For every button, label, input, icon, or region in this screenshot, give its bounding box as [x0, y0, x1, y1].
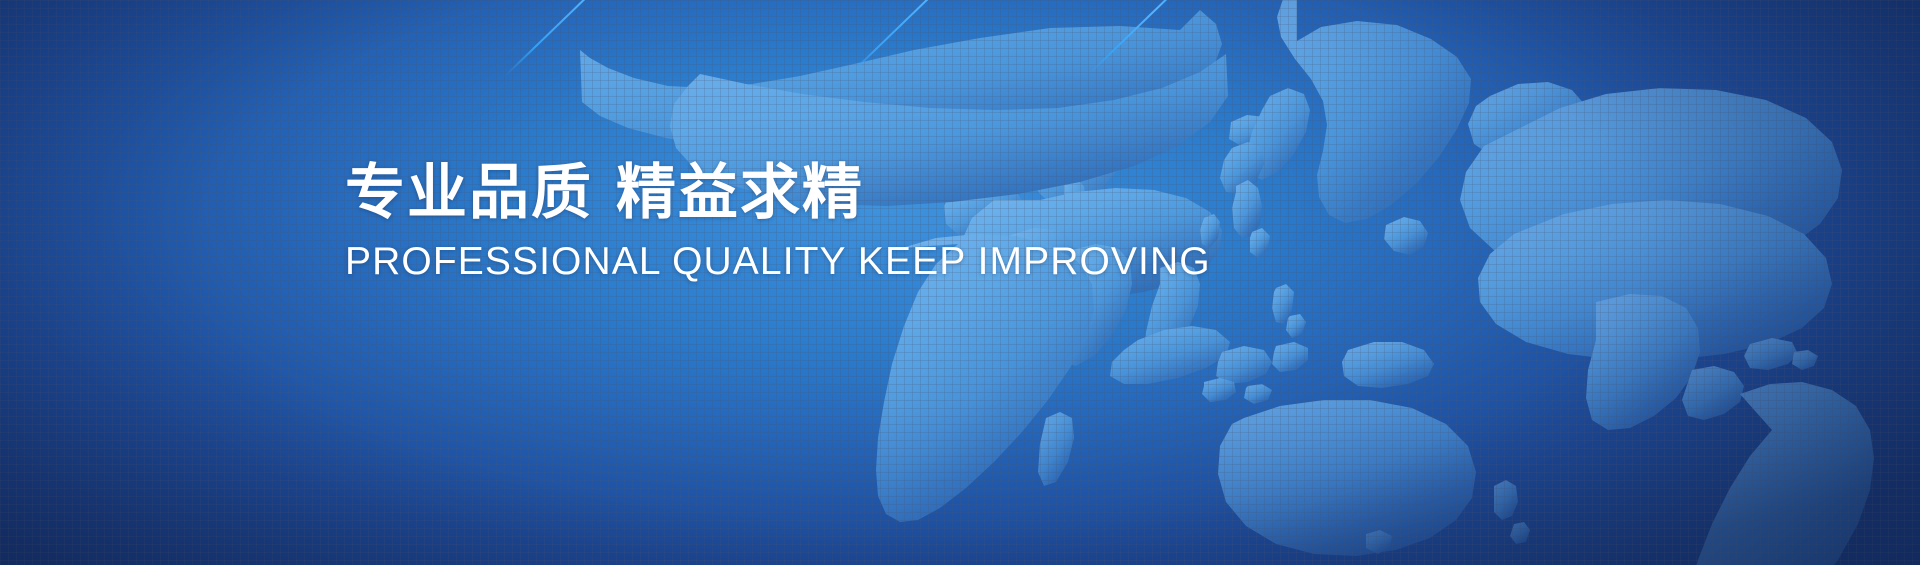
banner-copy-block: 专业品质 精益求精 PROFESSIONAL QUALITY KEEP IMPR…: [345, 160, 1211, 284]
diagonal-streak-icon: [1089, 0, 1213, 74]
diagonal-streak-icon: [504, 0, 674, 77]
banner-headline-english: PROFESSIONAL QUALITY KEEP IMPROVING: [345, 241, 1211, 284]
banner-headline-chinese: 专业品质 精益求精: [345, 160, 1211, 227]
hero-banner: 专业品质 精益求精 PROFESSIONAL QUALITY KEEP IMPR…: [0, 0, 1920, 565]
diagonal-streak-icon: [844, 0, 1014, 80]
